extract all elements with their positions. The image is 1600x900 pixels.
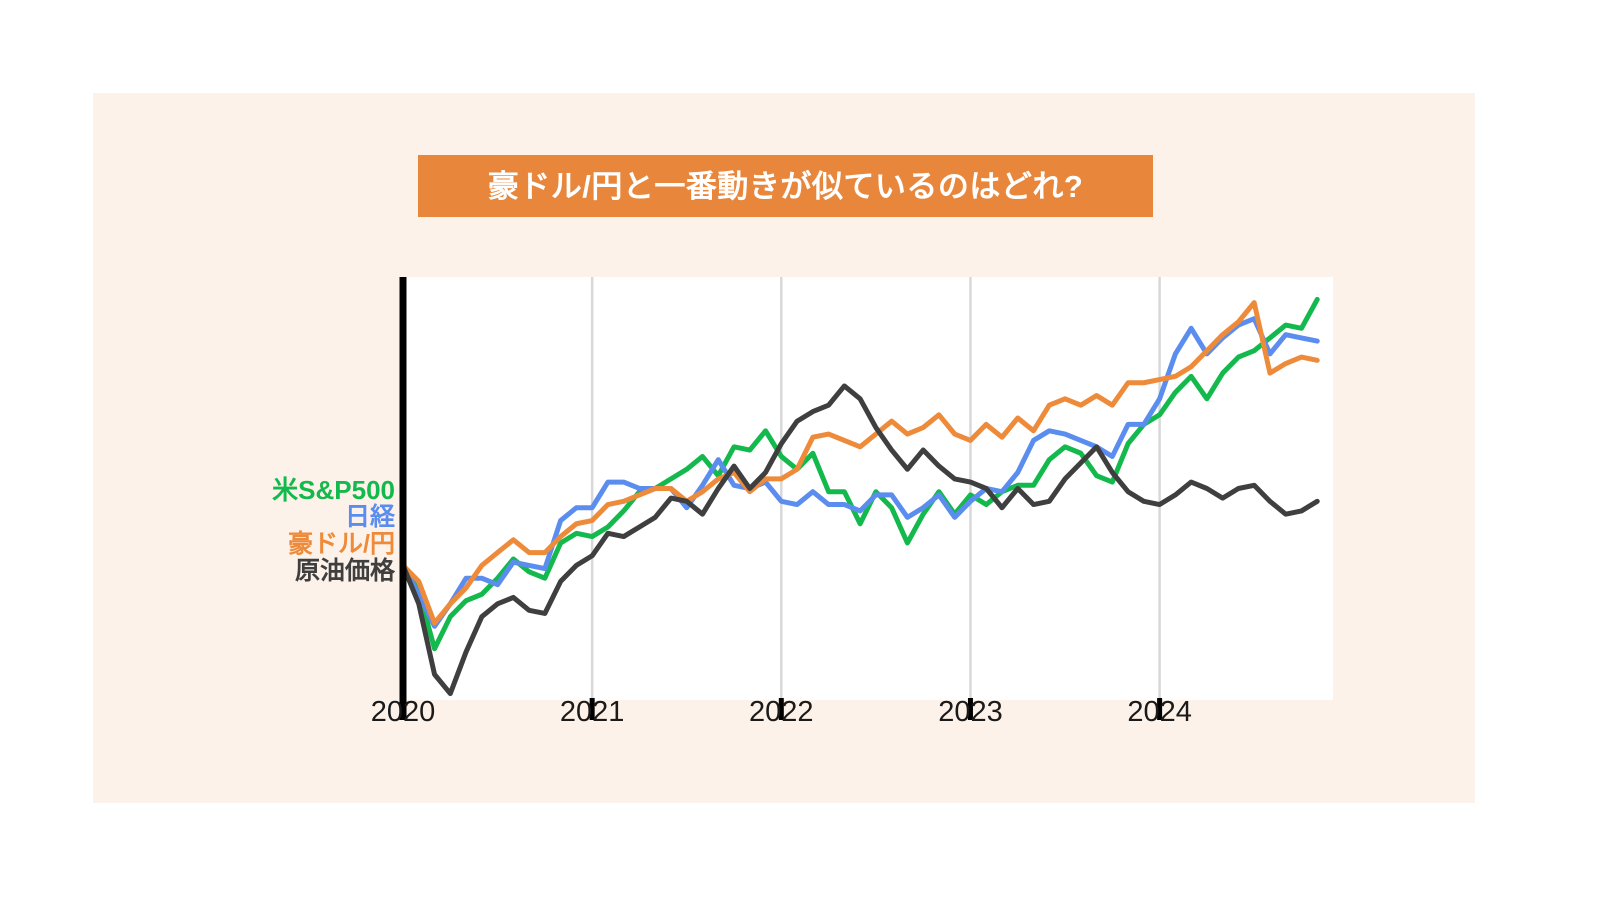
series-line-group bbox=[403, 299, 1317, 693]
series-line-原油価格 bbox=[403, 386, 1317, 694]
line-chart-svg bbox=[93, 93, 1475, 803]
series-line-日経 bbox=[403, 319, 1317, 627]
chart-container: 20202021202220232024 米S&P500 日経 豪ドル/円 原油… bbox=[93, 93, 1475, 803]
page-root: 豪ドル/円と一番動きが似ているのはどれ? 2020202120222023202… bbox=[0, 0, 1600, 900]
tick-mark-group bbox=[403, 698, 1160, 720]
chart-legend: 米S&P500 日経 豪ドル/円 原油価格 bbox=[223, 476, 395, 585]
legend-item-audjpy: 豪ドル/円 bbox=[223, 531, 395, 558]
chart-card: 豪ドル/円と一番動きが似ているのはどれ? 2020202120222023202… bbox=[93, 93, 1475, 803]
gridline-group bbox=[592, 277, 1159, 700]
legend-item-sp500: 米S&P500 bbox=[223, 476, 395, 504]
legend-item-nikkei: 日経 bbox=[223, 504, 395, 531]
legend-item-oil: 原油価格 bbox=[223, 558, 395, 585]
series-line-米S&P500 bbox=[403, 299, 1317, 648]
